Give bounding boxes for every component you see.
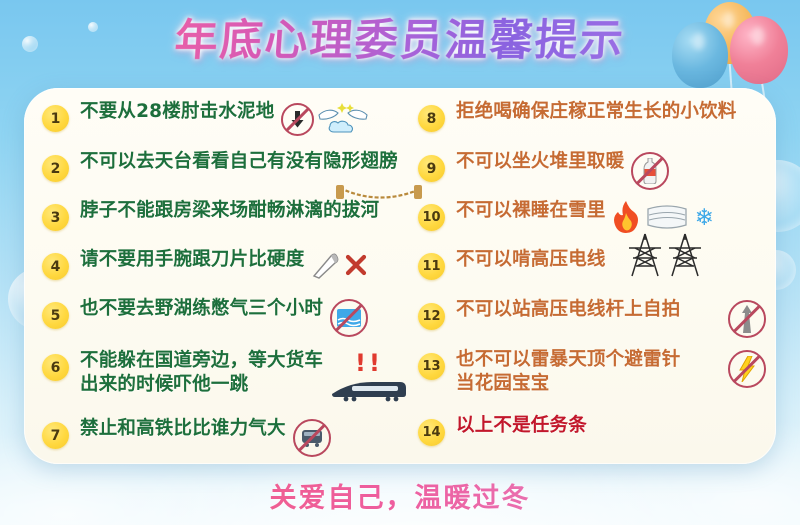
no-lightning-icon (728, 350, 766, 388)
no-water-icon (330, 299, 368, 337)
item-number-badge: 12 (418, 303, 445, 330)
item-text: 以上不是任务条 (456, 414, 587, 438)
left-column: 1 不要从28楼肘击水泥地 (42, 100, 414, 465)
list-item[interactable]: 7 禁止和高铁比比谁力气大 (42, 417, 414, 465)
no-pole-icon (728, 300, 766, 338)
red-cross-icon (344, 253, 368, 280)
item-icons (728, 350, 766, 388)
list-item[interactable]: 4 请不要用手腕跟刀片比硬度 (42, 248, 414, 297)
poster-canvas: 年底心理委员温馨提示 1 不要从28楼肘击水泥地 (0, 0, 800, 525)
item-number-badge: 14 (418, 419, 445, 446)
double-exclamation-icon: !! (355, 351, 383, 375)
item-text: 也不可以雷暴天顶个避雷针 当花园宝宝 (456, 348, 680, 396)
item-icons (311, 250, 368, 283)
item-text: 不可以啃高压电线 (456, 248, 606, 272)
list-item[interactable]: 3 脖子不能跟房梁来场酣畅淋漓的拔河 (42, 199, 414, 248)
item-icons: ❄ (613, 201, 714, 236)
item-icons (728, 300, 766, 338)
item-text: 不可以坐火堆里取暖 (456, 150, 624, 174)
item-number-badge: 11 (418, 253, 445, 280)
item-number-badge: 13 (418, 353, 445, 380)
item-number-badge: 7 (42, 422, 69, 449)
right-column: 8 拒绝喝确保庄稼正常生长的小饮料 9 不可以坐火堆里取暖 10 不 (418, 100, 762, 458)
footer-slogan-wrap: 关爱自己，温暖过冬 (0, 476, 800, 515)
rope-icon (336, 185, 422, 210)
list-item[interactable]: 11 不可以啃高压电线 (418, 248, 762, 298)
page-title-wrap: 年底心理委员温馨提示 (0, 6, 800, 68)
item-text: 不可以裸睡在雪里 (456, 199, 606, 223)
fire-icon (613, 201, 639, 236)
pylon-icon (665, 232, 705, 281)
item-icons (625, 232, 705, 281)
page-title: 年底心理委员温馨提示 (173, 6, 627, 68)
item-icons (281, 102, 369, 137)
item-number-badge: 8 (418, 105, 445, 132)
list-item[interactable]: 14 以上不是任务条 (418, 414, 762, 458)
item-text: 不可以站高压电线杆上自拍 (456, 298, 680, 322)
list-item[interactable]: 13 也不可以雷暴天顶个避雷针 当花园宝宝 (418, 348, 762, 414)
blade-icon (311, 250, 341, 283)
item-icons (293, 419, 331, 457)
item-text: 脖子不能跟房梁来场酣畅淋漓的拔河 (80, 199, 379, 223)
angel-wings-icon (317, 102, 369, 137)
item-number-badge: 1 (42, 105, 69, 132)
list-item[interactable]: 1 不要从28楼肘击水泥地 (42, 100, 414, 150)
no-bottle-icon (631, 152, 669, 190)
item-number-badge: 5 (42, 302, 69, 329)
train-icon (330, 376, 408, 405)
list-item[interactable]: 8 拒绝喝确保庄稼正常生长的小饮料 (418, 100, 762, 150)
item-text: 请不要用手腕跟刀片比硬度 (80, 248, 304, 272)
item-text: 不可以去天台看看自己有没有隐形翅膀 (80, 150, 398, 174)
list-item[interactable]: 12 不可以站高压电线杆上自拍 (418, 298, 762, 348)
item-icons (631, 152, 669, 190)
snowflake-icon: ❄ (695, 207, 714, 230)
item-text: 拒绝喝确保庄稼正常生长的小饮料 (456, 100, 737, 124)
item-icons (330, 299, 368, 337)
no-down-arrow-icon (281, 103, 314, 136)
list-item[interactable]: 10 不可以裸睡在雪里 (418, 199, 762, 248)
item-number-badge: 3 (42, 204, 69, 231)
pylon-icon (625, 232, 665, 281)
footer-slogan: 关爱自己，温暖过冬 (270, 483, 531, 514)
list-item[interactable]: 9 不可以坐火堆里取暖 (418, 150, 762, 199)
item-text: 不要从28楼肘击水泥地 (80, 100, 274, 124)
tips-card: 1 不要从28楼肘击水泥地 (24, 88, 776, 464)
no-train-icon (293, 419, 331, 457)
item-number-badge: 9 (418, 155, 445, 182)
item-number-badge: 4 (42, 253, 69, 280)
item-text: 不能躲在国道旁边，等大货车 出来的时候吓他一跳 (80, 349, 323, 397)
item-number-badge: 2 (42, 155, 69, 182)
item-text: 也不要去野湖练憋气三个小时 (80, 297, 323, 321)
item-icons: !! (330, 351, 408, 405)
item-number-badge: 10 (418, 204, 445, 231)
list-item[interactable]: 6 不能躲在国道旁边，等大货车 出来的时候吓他一跳 !! (42, 349, 414, 417)
list-item[interactable]: 5 也不要去野湖练憋气三个小时 (42, 297, 414, 349)
blanket-icon (644, 203, 690, 234)
item-number-badge: 6 (42, 354, 69, 381)
item-text: 禁止和高铁比比谁力气大 (80, 417, 286, 441)
